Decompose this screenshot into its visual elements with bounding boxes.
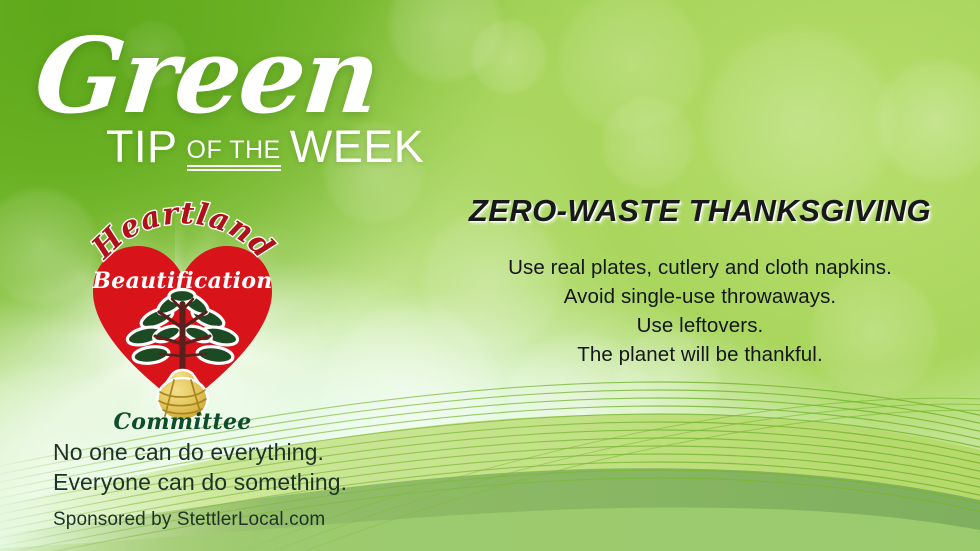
tagline-line-2: Everyone can do something. (53, 467, 473, 497)
sponsor-text: Sponsored by StettlerLocal.com (53, 509, 473, 531)
tip-title: ZERO-WASTE THANKSGIVING (440, 193, 960, 229)
tip-block: ZERO-WASTE THANKSGIVING Use real plates,… (440, 193, 960, 369)
of-the-word: OF THE (187, 139, 281, 167)
tip-body-line: The planet will be thankful. (440, 340, 960, 369)
bokeh-circle (470, 18, 548, 96)
tip-body-line: Avoid single-use throwaways. (440, 282, 960, 311)
tip-body: Use real plates, cutlery and cloth napki… (440, 253, 960, 369)
logo-arc-text: Heartland (85, 196, 281, 266)
tagline-line-1: No one can do everything. (53, 437, 473, 467)
bokeh-circle (872, 56, 980, 186)
bokeh-circle (600, 95, 696, 191)
tagline-block: No one can do everything. Everyone can d… (53, 437, 473, 531)
svg-text:Heartland: Heartland (85, 196, 281, 266)
week-word: WEEK (290, 126, 425, 167)
tip-body-line: Use real plates, cutlery and cloth napki… (440, 253, 960, 282)
poster-header: Green TIP OF THE WEEK (0, 0, 470, 190)
tip-body-line: Use leftovers. (440, 311, 960, 340)
bokeh-circle (556, 0, 706, 136)
tip-of-the-week-line: TIP OF THE WEEK (106, 126, 424, 167)
tip-word: TIP (106, 126, 178, 167)
page-title-script: Green (31, 24, 383, 128)
logo-bottom-text: Committee (113, 409, 251, 434)
green-tip-poster: Green TIP OF THE WEEK Heartland B (0, 0, 980, 551)
bokeh-circle (700, 22, 900, 222)
heartland-beautification-committee-logo: Heartland Beautification (75, 196, 290, 434)
